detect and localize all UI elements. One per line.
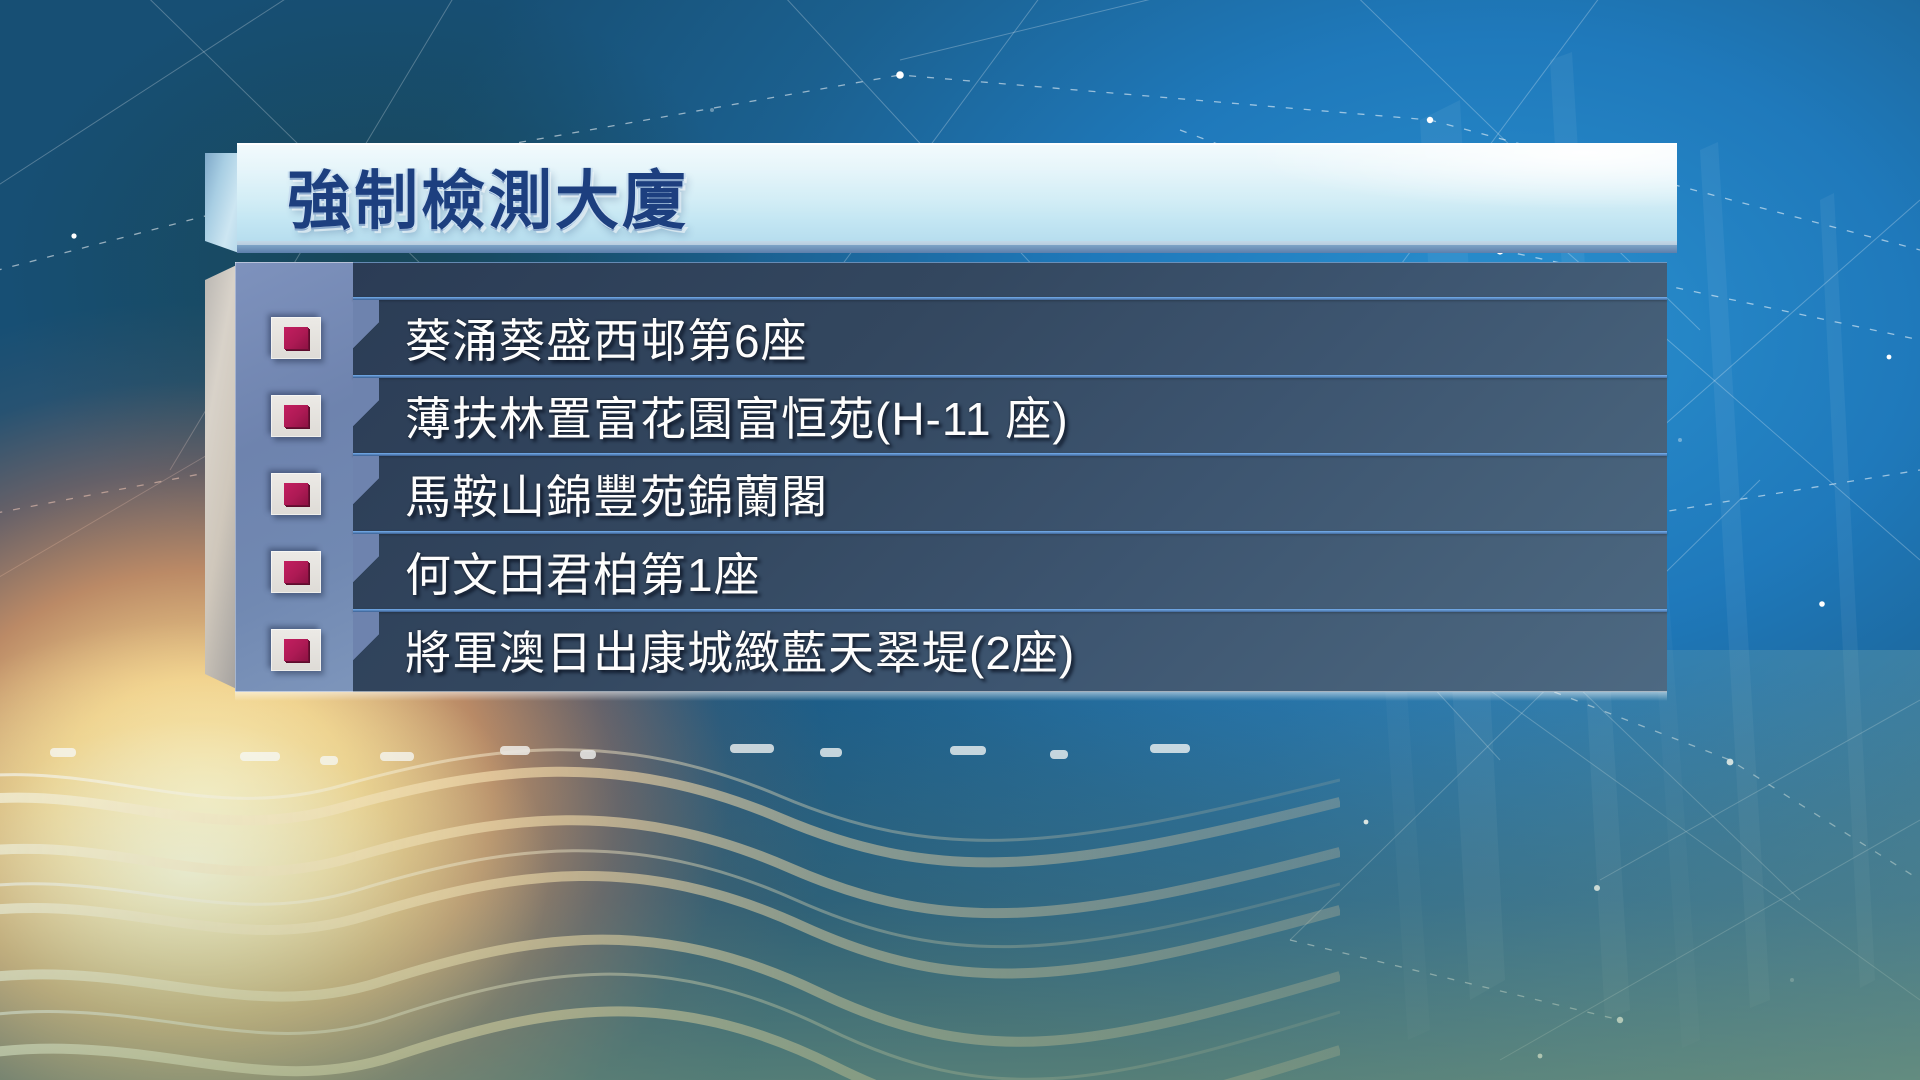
list-item[interactable]: 何文田君柏第1座: [205, 534, 1667, 609]
list-item[interactable]: 葵涌葵盛西邨第6座: [205, 300, 1667, 375]
row-notch: [353, 612, 379, 687]
row-separator: [353, 375, 1667, 378]
square-bullet-icon: [271, 629, 321, 671]
list-item[interactable]: 馬鞍山錦豐苑錦蘭閣: [205, 456, 1667, 531]
row-notch: [353, 456, 379, 531]
row-separator: [353, 609, 1667, 612]
list-item-label: 馬鞍山錦豐苑錦蘭閣: [405, 461, 828, 527]
row-notch: [353, 378, 379, 453]
row-notch: [353, 534, 379, 609]
square-bullet-icon: [271, 551, 321, 593]
square-bullet-icon: [271, 317, 321, 359]
row-separator: [353, 453, 1667, 456]
background-bottom-band: [0, 680, 1920, 1080]
row-separator: [353, 297, 1667, 300]
list-item-label: 葵涌葵盛西邨第6座: [405, 305, 808, 371]
building-list-panel: 葵涌葵盛西邨第6座 薄扶林置富花園富恒苑(H-11 座) 馬鞍山錦豐苑錦蘭閣 何…: [205, 262, 1667, 692]
row-separator: [353, 531, 1667, 534]
list-item[interactable]: 將軍澳日出康城緻藍天翠堤(2座): [205, 612, 1667, 687]
list-item[interactable]: 薄扶林置富花園富恒苑(H-11 座): [205, 378, 1667, 453]
square-bullet-icon: [271, 395, 321, 437]
page-title: 強制檢測大廈: [287, 150, 689, 242]
square-bullet-icon: [271, 473, 321, 515]
title-banner-bottom-bevel: [237, 241, 1677, 253]
list-item-label: 將軍澳日出康城緻藍天翠堤(2座): [405, 617, 1075, 683]
list-item-label: 何文田君柏第1座: [405, 539, 761, 605]
title-banner-left-bevel: [205, 153, 239, 253]
list-item-label: 薄扶林置富花園富恒苑(H-11 座): [405, 383, 1069, 449]
panel-bottom-shadow: [235, 691, 1667, 701]
page-title-banner: 強制檢測大廈: [205, 143, 1677, 253]
row-notch: [353, 300, 379, 375]
